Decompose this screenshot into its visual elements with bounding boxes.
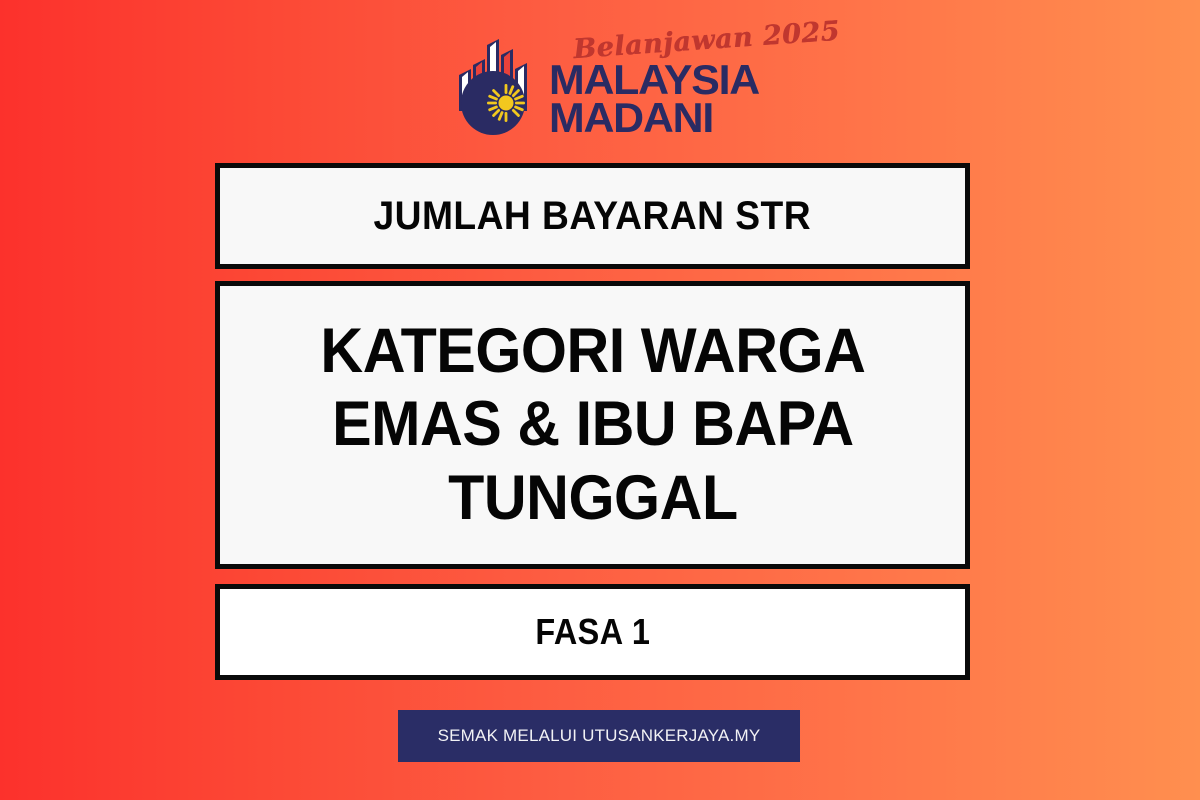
- card-phase-label: FASA 1: [535, 611, 650, 653]
- main-heading-line-3: TUNGGAL: [320, 462, 865, 535]
- card-title-label: JUMLAH BAYARAN STR: [374, 194, 812, 239]
- card-main-heading: KATEGORI WARGA EMAS & IBU BAPA TUNGGAL: [215, 281, 970, 569]
- logo-brand-madani: MADANI: [549, 97, 713, 139]
- footer-cta-label: SEMAK MELALUI UTUSANKERJAYA.MY: [438, 726, 761, 746]
- card-main-heading-text: KATEGORI WARGA EMAS & IBU BAPA TUNGGAL: [312, 315, 872, 534]
- poster-root: Belanjawan 2025 MALAYSIA MADANI JUMLAH B…: [0, 0, 1200, 800]
- main-heading-line-1: KATEGORI WARGA: [320, 315, 865, 388]
- main-heading-line-2: EMAS & IBU BAPA: [320, 388, 865, 461]
- malaysia-madani-logo: Belanjawan 2025 MALAYSIA MADANI: [451, 19, 749, 137]
- card-phase: FASA 1: [215, 584, 970, 680]
- logo-header: Belanjawan 2025 MALAYSIA MADANI: [0, 18, 1200, 138]
- footer-cta-banner[interactable]: SEMAK MELALUI UTUSANKERJAYA.MY: [398, 710, 800, 762]
- logo-wordmark: Belanjawan 2025 MALAYSIA MADANI: [549, 25, 749, 137]
- card-title: JUMLAH BAYARAN STR: [215, 163, 970, 269]
- malaysia-madani-logo-icon: [451, 25, 543, 137]
